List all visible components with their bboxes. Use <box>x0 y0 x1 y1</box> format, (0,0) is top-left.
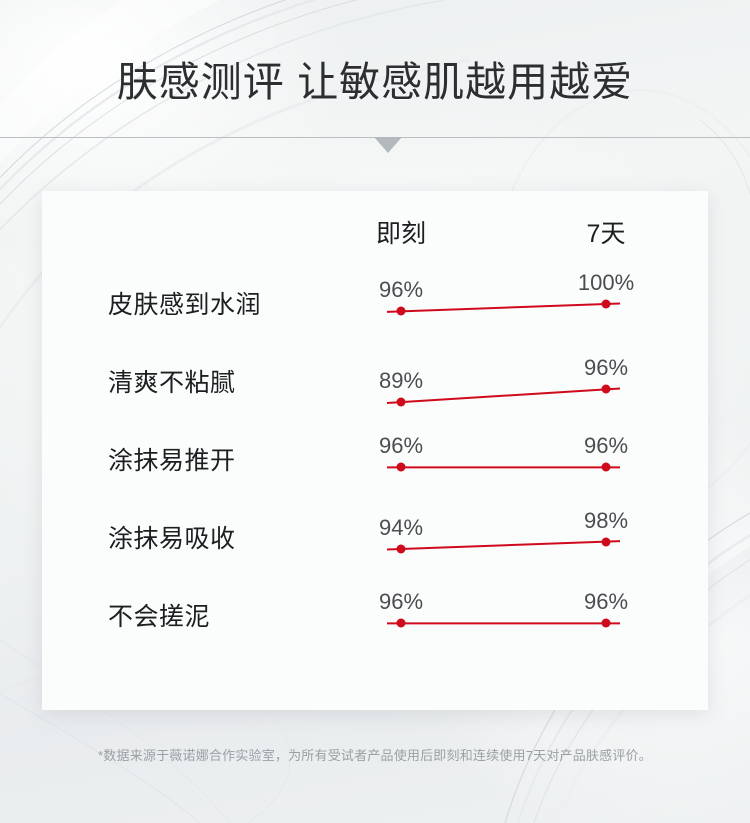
row-label: 涂抹易推开 <box>108 441 236 477</box>
table-row: 清爽不粘腻89%96% <box>42 342 708 420</box>
data-point-immediate <box>397 398 406 407</box>
skin-feel-results-card: 即刻 7天 皮肤感到水润96%100%清爽不粘腻89%96%涂抹易推开96%96… <box>42 191 708 710</box>
slope-line <box>342 264 682 342</box>
slope-line <box>342 420 682 498</box>
table-row: 涂抹易吸收94%98% <box>42 498 708 576</box>
row-slope-chart: 94%98% <box>342 498 682 576</box>
chevron-down-icon <box>374 137 402 153</box>
row-label: 皮肤感到水润 <box>108 285 261 321</box>
table-row: 不会搓泥96%96% <box>42 576 708 654</box>
row-label: 清爽不粘腻 <box>108 363 236 399</box>
data-point-immediate <box>397 463 406 472</box>
page-title: 肤感测评 让敏感肌越用越爱 <box>0 62 750 103</box>
column-header-immediate: 即刻 <box>376 214 426 250</box>
row-slope-chart: 89%96% <box>342 342 682 420</box>
table-row: 涂抹易推开96%96% <box>42 420 708 498</box>
page-title-wrap: 肤感测评 让敏感肌越用越爱 <box>0 62 750 103</box>
footnote: *数据来源于薇诺娜合作实验室，为所有受试者产品使用后即刻和连续使用7天对产品肤感… <box>0 745 750 764</box>
data-point-day7 <box>602 619 611 628</box>
table-row: 皮肤感到水润96%100% <box>42 264 708 342</box>
data-point-day7 <box>602 385 611 394</box>
data-point-immediate <box>397 545 406 554</box>
data-point-immediate <box>397 307 406 316</box>
row-slope-chart: 96%100% <box>342 264 682 342</box>
slope-line <box>342 342 682 420</box>
row-slope-chart: 96%96% <box>342 576 682 654</box>
data-point-day7 <box>602 463 611 472</box>
slope-line <box>342 498 682 576</box>
data-point-immediate <box>397 619 406 628</box>
results-rows: 皮肤感到水润96%100%清爽不粘腻89%96%涂抹易推开96%96%涂抹易吸收… <box>42 264 708 654</box>
row-label: 不会搓泥 <box>108 597 210 633</box>
column-header-row: 即刻 7天 <box>42 191 708 261</box>
column-header-day7: 7天 <box>587 214 626 250</box>
row-label: 涂抹易吸收 <box>108 519 236 555</box>
row-slope-chart: 96%96% <box>342 420 682 498</box>
data-point-day7 <box>602 537 611 546</box>
data-point-day7 <box>602 300 611 309</box>
slope-line <box>342 576 682 654</box>
